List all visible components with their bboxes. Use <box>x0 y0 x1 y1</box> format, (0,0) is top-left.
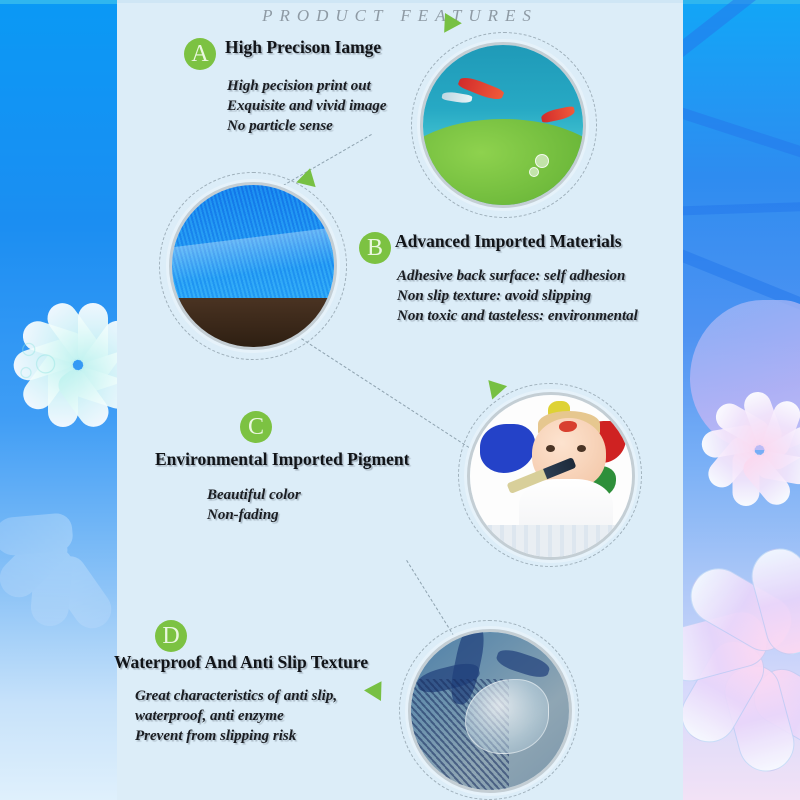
photo-b-wood-floor <box>172 298 334 347</box>
blue-textile-material-photo <box>169 182 337 350</box>
feature-badge-d: D <box>155 620 187 652</box>
feature-heading-c: Environmental Imported Pigment <box>155 449 409 470</box>
feature-badge-b: B <box>359 232 391 264</box>
photo-a-bubble-2 <box>529 167 539 177</box>
left-background-panel <box>0 0 122 800</box>
arrow-marker-d <box>364 676 390 701</box>
feature-heading-b: Advanced Imported Materials <box>395 231 622 252</box>
feature-bullets-d: Great characteristics of anti slip, wate… <box>135 686 337 746</box>
content-panel: PRODUCT FEATURES A High Precison Iamge H… <box>117 0 683 800</box>
connector-line-b-c <box>288 330 469 448</box>
koi-printed-mat-photo <box>420 42 586 208</box>
photo-a-bubble-1 <box>535 154 549 168</box>
product-features-infographic: PRODUCT FEATURES A High Precison Iamge H… <box>0 0 800 800</box>
left-soft-flower-decoration <box>0 470 130 630</box>
feature-heading-a: High Precison Iamge <box>225 37 381 58</box>
feature-heading-d: Waterproof And Anti Slip Texture <box>114 652 368 673</box>
feature-badge-c: C <box>240 411 272 443</box>
panel-top-edge <box>117 0 683 3</box>
page-title: PRODUCT FEATURES <box>117 6 683 26</box>
feature-bullets-c: Beautiful color Non-fading <box>207 485 301 525</box>
right-background-panel <box>682 0 800 800</box>
left-flower-doodle <box>12 332 68 390</box>
feature-badge-a: A <box>184 38 216 70</box>
photo-a-lotus-leaf <box>420 119 586 208</box>
right-flower-decoration <box>686 390 800 510</box>
baby-painting-photo <box>467 392 635 560</box>
feature-bullets-b: Adhesive back surface: self adhesion Non… <box>397 266 638 326</box>
left-top-edge <box>0 0 122 4</box>
photo-c-painted-mat <box>480 525 632 557</box>
feature-bullets-a: High pecision print out Exquisite and vi… <box>227 76 387 136</box>
water-drop-texture-photo <box>408 629 572 793</box>
